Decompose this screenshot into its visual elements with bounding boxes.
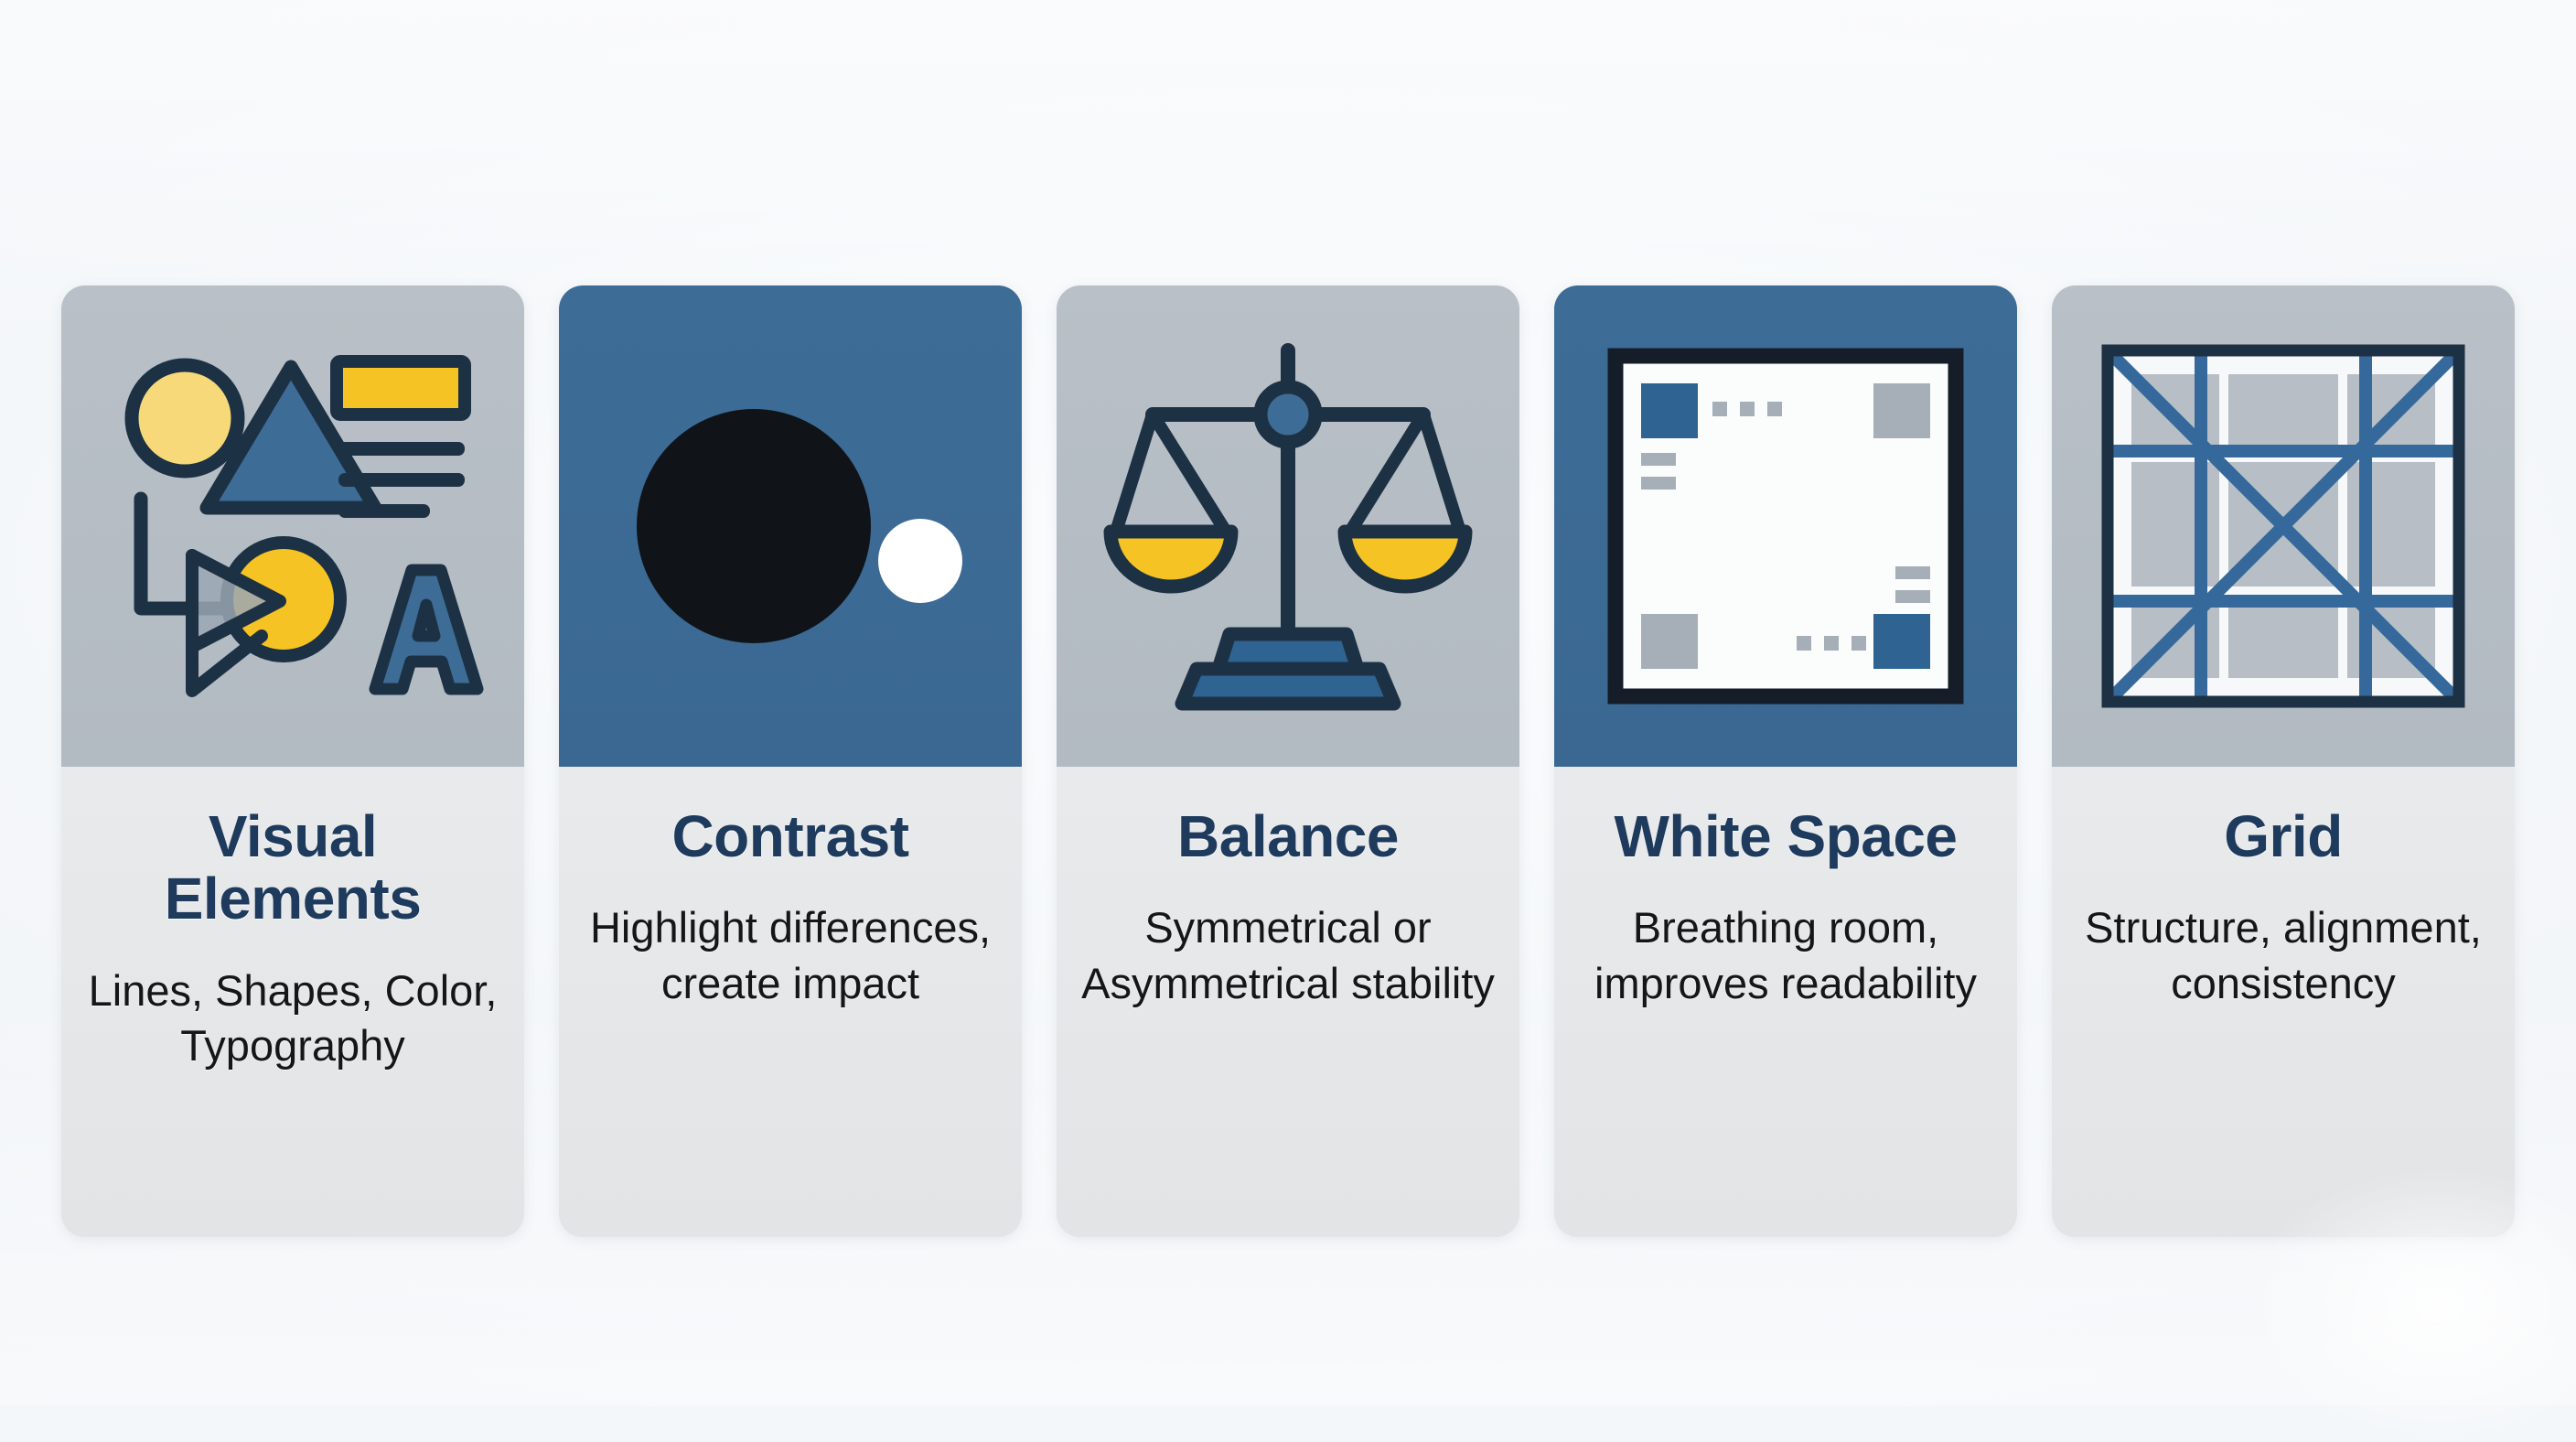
card-body-contrast: Contrast Highlight differences, create i…: [559, 767, 1022, 1237]
design-principles-card-deck: Visual Elements Lines, Shapes, Color, Ty…: [0, 0, 2576, 1405]
card-body-visual-elements: Visual Elements Lines, Shapes, Color, Ty…: [61, 767, 524, 1237]
card-body-white-space: White Space Breathing room, improves rea…: [1554, 767, 2017, 1237]
card-description: Symmetrical or Asymmetrical stability: [1080, 900, 1496, 1010]
card-description: Structure, alignment, consistency: [2076, 900, 2491, 1010]
card-header-visual-elements: [61, 285, 524, 767]
card-title: Balance: [1177, 805, 1399, 867]
card-visual-elements[interactable]: Visual Elements Lines, Shapes, Color, Ty…: [61, 285, 524, 1237]
card-header-balance: [1057, 285, 1519, 767]
balance-scale-icon: [1096, 334, 1480, 718]
large-black-circle: [637, 409, 871, 643]
card-header-contrast: [559, 285, 1022, 767]
card-contrast[interactable]: Contrast Highlight differences, create i…: [559, 285, 1022, 1237]
white-space-canvas-icon: [1594, 334, 1978, 718]
card-grid[interactable]: Grid Structure, alignment, consistency: [2052, 285, 2515, 1237]
card-description: Highlight differences, create impact: [583, 900, 998, 1010]
card-title: Visual Elements: [85, 805, 500, 931]
card-description: Breathing room, improves readability: [1578, 900, 1993, 1010]
card-title: White Space: [1614, 805, 1957, 867]
card-title: Contrast: [671, 805, 908, 867]
contrast-circles-icon: [598, 334, 982, 718]
card-header-grid: [2052, 285, 2515, 767]
grid-layout-icon: [2091, 334, 2475, 718]
visual-elements-icon: [101, 334, 485, 718]
card-header-white-space: [1554, 285, 2017, 767]
card-body-grid: Grid Structure, alignment, consistency: [2052, 767, 2515, 1237]
card-title: Grid: [2224, 805, 2343, 867]
card-balance[interactable]: Balance Symmetrical or Asymmetrical stab…: [1057, 285, 1519, 1237]
card-white-space[interactable]: White Space Breathing room, improves rea…: [1554, 285, 2017, 1237]
card-body-balance: Balance Symmetrical or Asymmetrical stab…: [1057, 767, 1519, 1237]
small-white-circle: [878, 519, 962, 603]
card-description: Lines, Shapes, Color, Typography: [85, 963, 500, 1073]
